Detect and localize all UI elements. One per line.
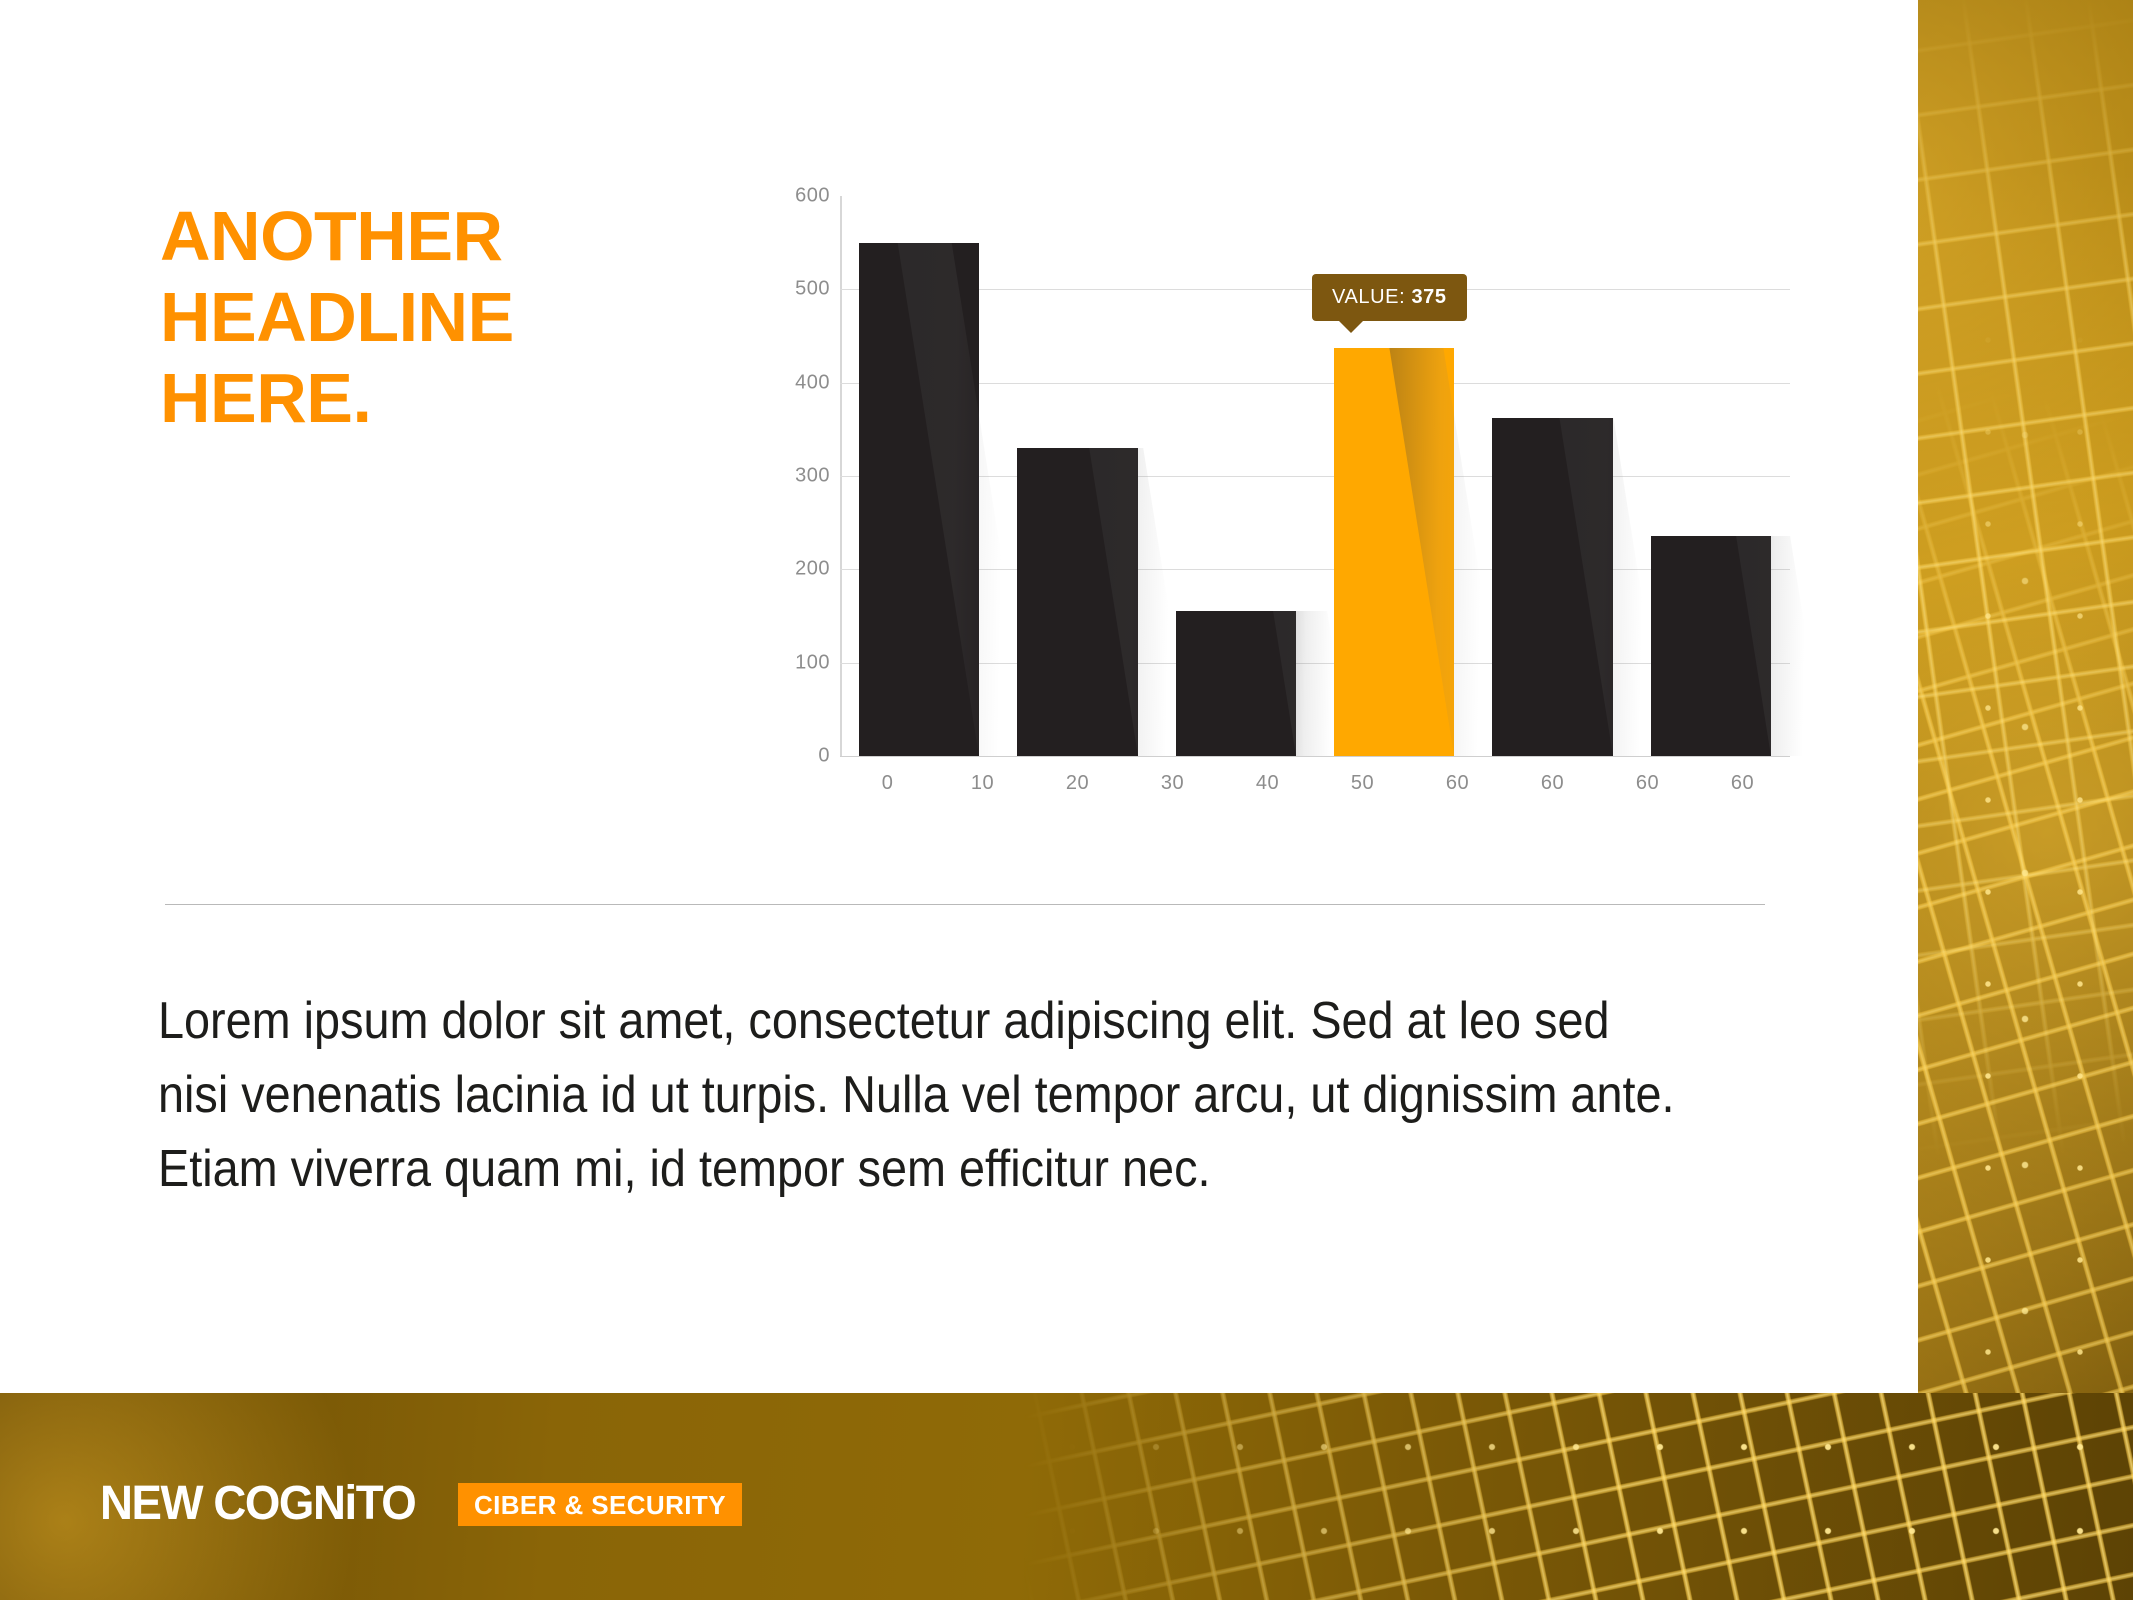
bar-highlighted[interactable] bbox=[1334, 348, 1454, 756]
content-card: ANOTHER HEADLINE HERE. 60050040030020010… bbox=[0, 0, 1918, 1393]
x-axis-tick-label: 40 bbox=[1256, 772, 1279, 795]
x-axis-tick-label: 10 bbox=[971, 772, 994, 795]
tooltip-arrow-icon bbox=[1338, 320, 1364, 333]
y-axis-tick-label: 400 bbox=[795, 371, 830, 394]
x-axis-tick-label: 50 bbox=[1351, 772, 1374, 795]
section-divider bbox=[165, 904, 1765, 905]
page-title: ANOTHER HEADLINE HERE. bbox=[160, 196, 720, 440]
y-axis-tick-label: 100 bbox=[795, 651, 830, 674]
x-axis-tick-label: 60 bbox=[1541, 772, 1564, 795]
bar[interactable] bbox=[1017, 448, 1137, 756]
bar-chart: 6005004003002001000 0102030405060606060 … bbox=[770, 196, 1790, 816]
bar[interactable] bbox=[1651, 536, 1771, 756]
bar[interactable] bbox=[859, 243, 979, 756]
y-axis-tick-label: 600 bbox=[795, 185, 830, 208]
y-axis-tick-label: 500 bbox=[795, 278, 830, 301]
tooltip-value: 375 bbox=[1411, 286, 1446, 308]
brand-logo[interactable]: NEW COGNiTO CIBER & SECURITY bbox=[100, 1478, 742, 1530]
logo-tagline-badge: CIBER & SECURITY bbox=[458, 1483, 742, 1526]
y-axis-tick-label: 300 bbox=[795, 465, 830, 488]
y-axis-tick-label: 200 bbox=[795, 558, 830, 581]
body-paragraph: Lorem ipsum dolor sit amet, consectetur … bbox=[158, 985, 1679, 1206]
x-axis-tick-label: 60 bbox=[1446, 772, 1469, 795]
tooltip-label: VALUE: bbox=[1332, 286, 1405, 308]
bar[interactable] bbox=[1176, 611, 1296, 756]
logo-wordmark: NEW COGNiTO bbox=[100, 1480, 415, 1528]
x-axis-tick-label: 60 bbox=[1731, 772, 1754, 795]
y-axis: 6005004003002001000 bbox=[770, 196, 830, 756]
x-axis-tick-label: 0 bbox=[882, 772, 894, 795]
x-axis-tick-label: 20 bbox=[1066, 772, 1089, 795]
x-axis: 0102030405060606060 bbox=[840, 772, 1790, 808]
y-axis-tick-label: 0 bbox=[818, 745, 830, 768]
value-tooltip: VALUE: 375 bbox=[1312, 274, 1467, 321]
x-axis-tick-label: 30 bbox=[1161, 772, 1184, 795]
slide-root: ANOTHER HEADLINE HERE. 60050040030020010… bbox=[0, 0, 2133, 1600]
x-axis-tick-label: 60 bbox=[1636, 772, 1659, 795]
bar[interactable] bbox=[1492, 418, 1612, 756]
gridline bbox=[840, 756, 1790, 757]
